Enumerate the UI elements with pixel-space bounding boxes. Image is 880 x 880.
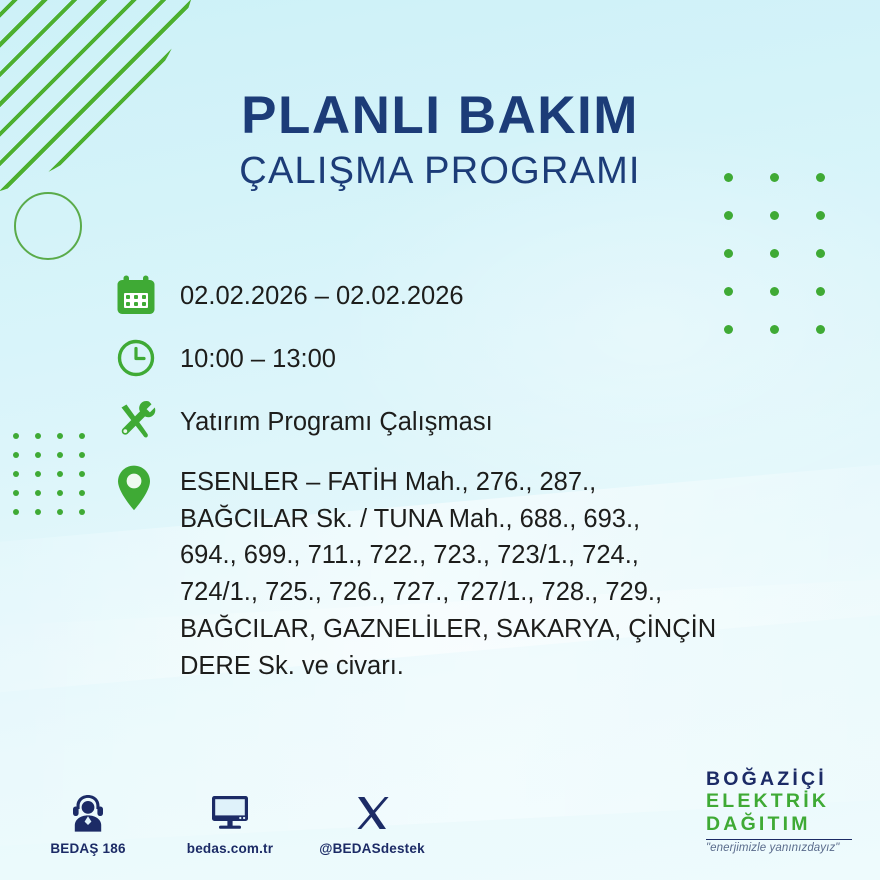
date-range-text: 02.02.2026 – 02.02.2026 [180,272,464,315]
detail-row-location: ESENLER – FATİH Mah., 276., 287., BAĞCIL… [116,461,776,684]
monitor-icon [206,790,254,834]
brand-line-elektrik: ELEKTRİK [706,790,858,813]
map-pin-icon [116,461,180,507]
footer-label: bedas.com.tr [187,841,273,856]
brand-line-dagitim: DAĞITIM [706,813,858,836]
footer-contacts: BEDAŞ 186 bedas.com.tr [40,790,420,856]
location-line: BAĞCILAR Sk. / TUNA Mah., 688., 693., [180,501,716,538]
poster-canvas: PLANLI BAKIM ÇALIŞMA PROGRAMI [0,0,880,880]
brand-logo: BOĞAZİÇİ ELEKTRİK DAĞITIM "enerjimizle y… [706,768,858,854]
footer-label: @BEDASdestek [319,841,425,856]
location-line: ESENLER – FATİH Mah., 276., 287., [180,464,716,501]
title-line-secondary: ÇALIŞMA PROGRAMI [0,150,880,193]
footer-label: BEDAŞ 186 [50,841,125,856]
location-line: BAĞCILAR, GAZNELİLER, SAKARYA, ÇİNÇİN [180,611,716,648]
brand-tagline: "enerjimizle yanınızdayız" [706,842,858,854]
circle-outline-decoration [14,192,82,260]
time-range-text: 10:00 – 13:00 [180,335,336,378]
page-title: PLANLI BAKIM ÇALIŞMA PROGRAMI [0,88,880,193]
footer-item-social[interactable]: @BEDASdestek [324,790,420,856]
title-line-primary: PLANLI BAKIM [0,88,880,144]
location-text: ESENLER – FATİH Mah., 276., 287., BAĞCIL… [180,461,716,684]
brand-line-bogazici: BOĞAZİÇİ [706,768,858,791]
detail-row-date: 02.02.2026 – 02.02.2026 [116,272,776,318]
support-agent-icon [66,790,110,834]
outage-details: 02.02.2026 – 02.02.2026 10:00 – 13:00 [116,272,776,701]
detail-row-work-type: Yatırım Programı Çalışması [116,398,776,444]
calendar-icon [116,272,180,318]
tools-icon [116,398,180,444]
location-line: 694., 699., 711., 722., 723., 723/1., 72… [180,537,716,574]
dot-grid-left-decoration [13,433,101,528]
footer-item-website[interactable]: bedas.com.tr [182,790,278,856]
x-twitter-icon [351,790,393,834]
brand-divider [706,839,852,841]
detail-row-time: 10:00 – 13:00 [116,335,776,381]
footer-item-call-center[interactable]: BEDAŞ 186 [40,790,136,856]
location-line: DERE Sk. ve civarı. [180,648,716,685]
work-type-text: Yatırım Programı Çalışması [180,398,493,441]
clock-icon [116,335,180,381]
location-line: 724/1., 725., 726., 727., 727/1., 728., … [180,574,716,611]
